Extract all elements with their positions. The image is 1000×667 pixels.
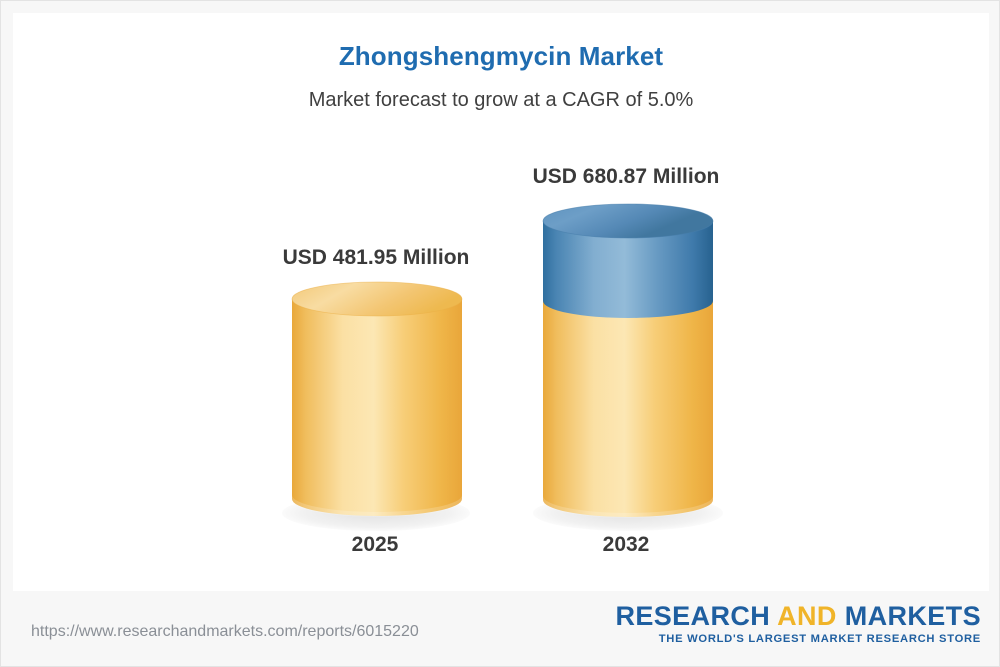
- source-url[interactable]: https://www.researchandmarkets.com/repor…: [31, 623, 419, 641]
- logo-tagline: THE WORLD'S LARGEST MARKET RESEARCH STOR…: [615, 633, 981, 645]
- chart-title: Zhongshengmycin Market: [1, 41, 1000, 72]
- chart-card: Zhongshengmycin Market Market forecast t…: [0, 0, 1000, 667]
- logo-word-research: RESEARCH: [615, 601, 770, 631]
- bar-value-label-2032: USD 680.87 Million: [486, 165, 766, 189]
- bar-cylinder-2032: [539, 200, 717, 522]
- logo-word-markets: MARKETS: [845, 601, 981, 631]
- bar-value-label-2025: USD 481.95 Million: [236, 246, 516, 270]
- bar-category-label-2032: 2032: [526, 533, 726, 557]
- chart-subtitle: Market forecast to grow at a CAGR of 5.0…: [1, 89, 1000, 112]
- research-and-markets-logo: RESEARCH AND MARKETS THE WORLD'S LARGEST…: [615, 602, 981, 645]
- bar-category-label-2025: 2025: [275, 533, 475, 557]
- bar-cylinder-2025: [289, 281, 465, 521]
- logo-wordmark: RESEARCH AND MARKETS: [615, 602, 981, 630]
- logo-word-and: AND: [770, 601, 845, 631]
